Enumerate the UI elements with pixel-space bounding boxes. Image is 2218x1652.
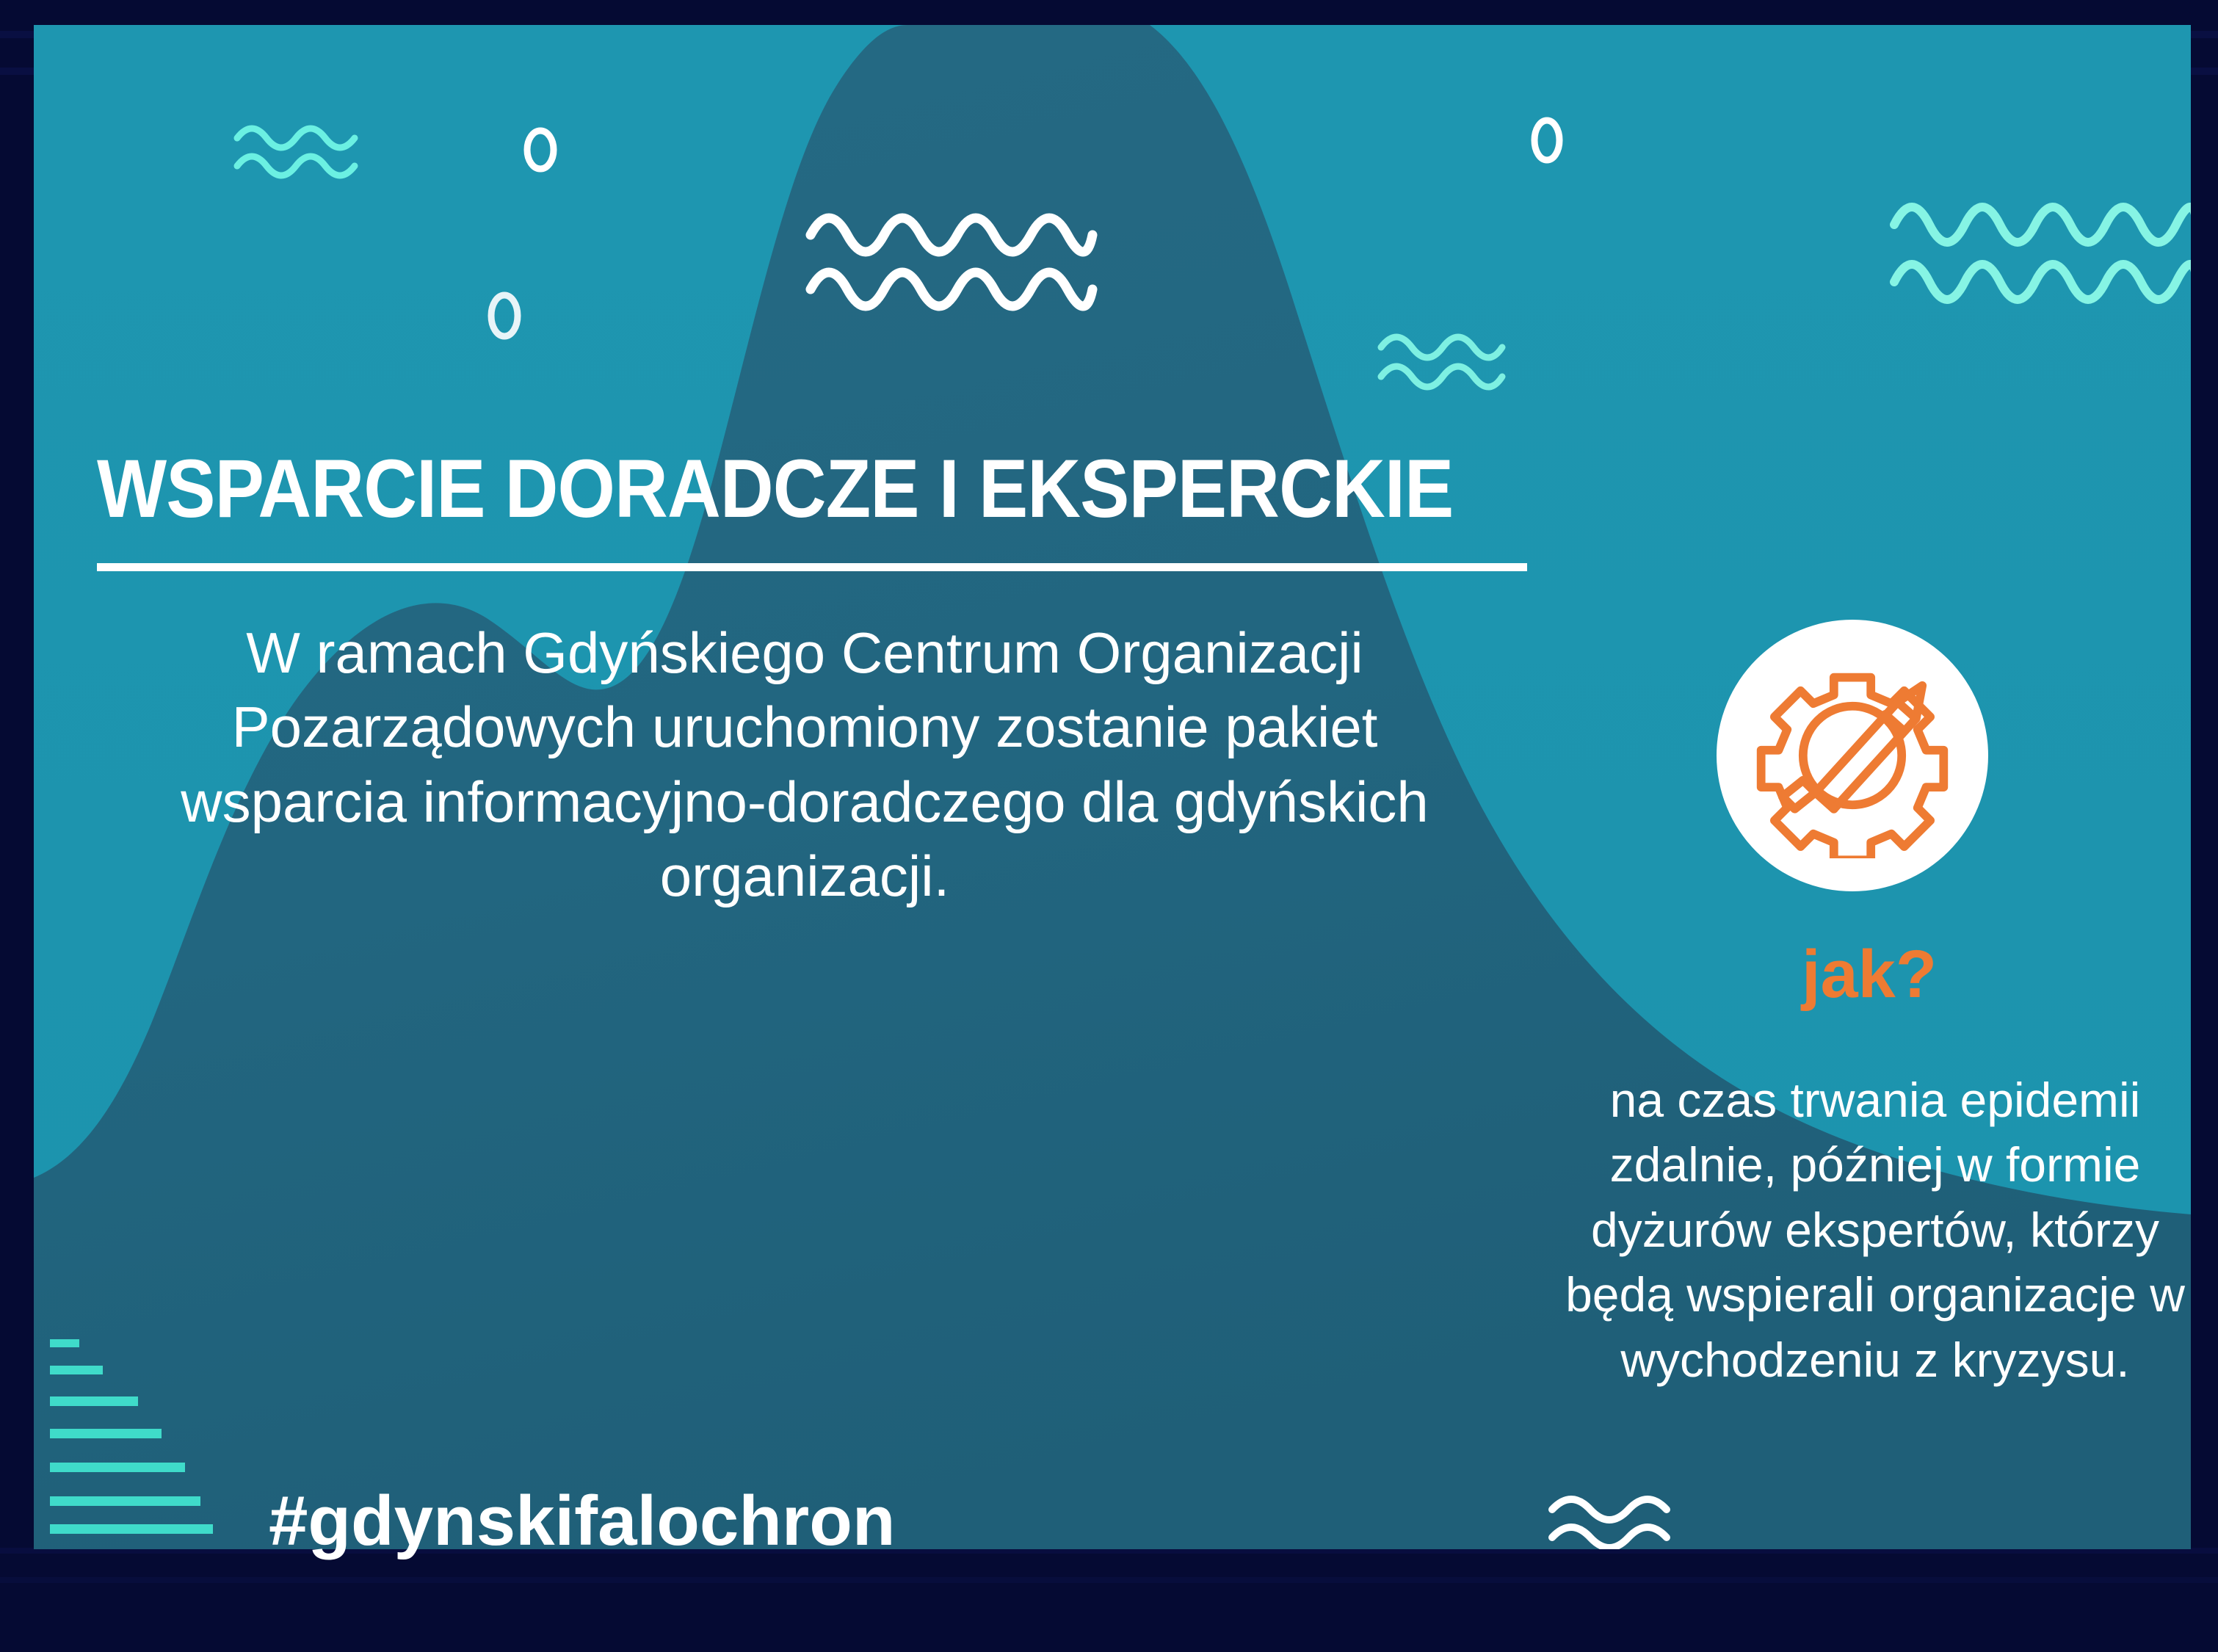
title-underline-rule — [97, 563, 1527, 571]
body-paragraph: W ramach Gdyńskiego Centrum Organizacji … — [181, 616, 1429, 914]
question-label: jak? — [1634, 941, 2104, 1008]
hashtag-label: #gdynskifalochron — [269, 1486, 896, 1557]
answer-paragraph: na czas trwania epidemii zdalnie, późnie… — [1559, 1068, 2191, 1392]
poster-root: WSPARCIE DORADCZE I EKSPERCKIE W ramach … — [0, 0, 2218, 1652]
gear-pencil-icon — [1750, 653, 1955, 858]
frame-band — [0, 1577, 2218, 1583]
page-title: WSPARCIE DORADCZE I EKSPERCKIE — [97, 448, 1412, 530]
icon-badge-circle — [1717, 620, 1988, 891]
poster-canvas: WSPARCIE DORADCZE I EKSPERCKIE W ramach … — [34, 25, 2191, 1549]
